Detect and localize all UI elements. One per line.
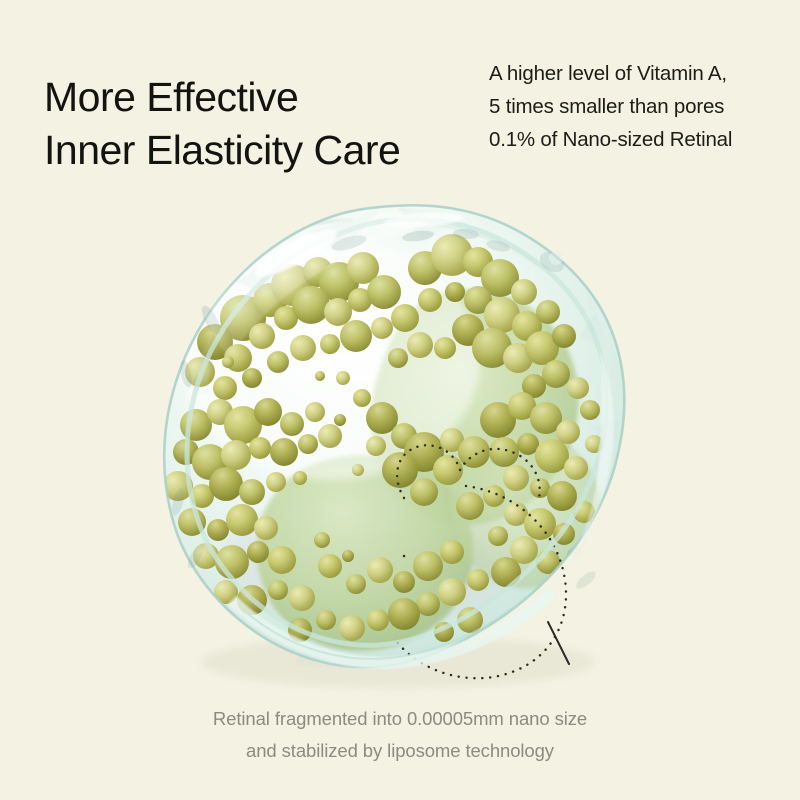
- claim-line-2: 5 times smaller than pores: [489, 90, 732, 123]
- headline-line-2: Inner Elasticity Care: [44, 124, 400, 176]
- product-claims: A higher level of Vitamin A, 5 times sma…: [489, 57, 732, 157]
- infographic-page: More Effective Inner Elasticity Care A h…: [0, 0, 800, 800]
- claim-line-3: 0.1% of Nano-sized Retinal: [489, 123, 732, 156]
- claim-line-1: A higher level of Vitamin A,: [489, 57, 732, 90]
- illustration-caption: Retinal fragmented into 0.00005mm nano s…: [0, 703, 800, 767]
- headline-line-1: More Effective: [44, 74, 298, 120]
- page-title: More Effective Inner Elasticity Care: [44, 71, 400, 176]
- caption-line-1: Retinal fragmented into 0.00005mm nano s…: [0, 703, 800, 735]
- caption-line-2: and stabilized by liposome technology: [0, 735, 800, 767]
